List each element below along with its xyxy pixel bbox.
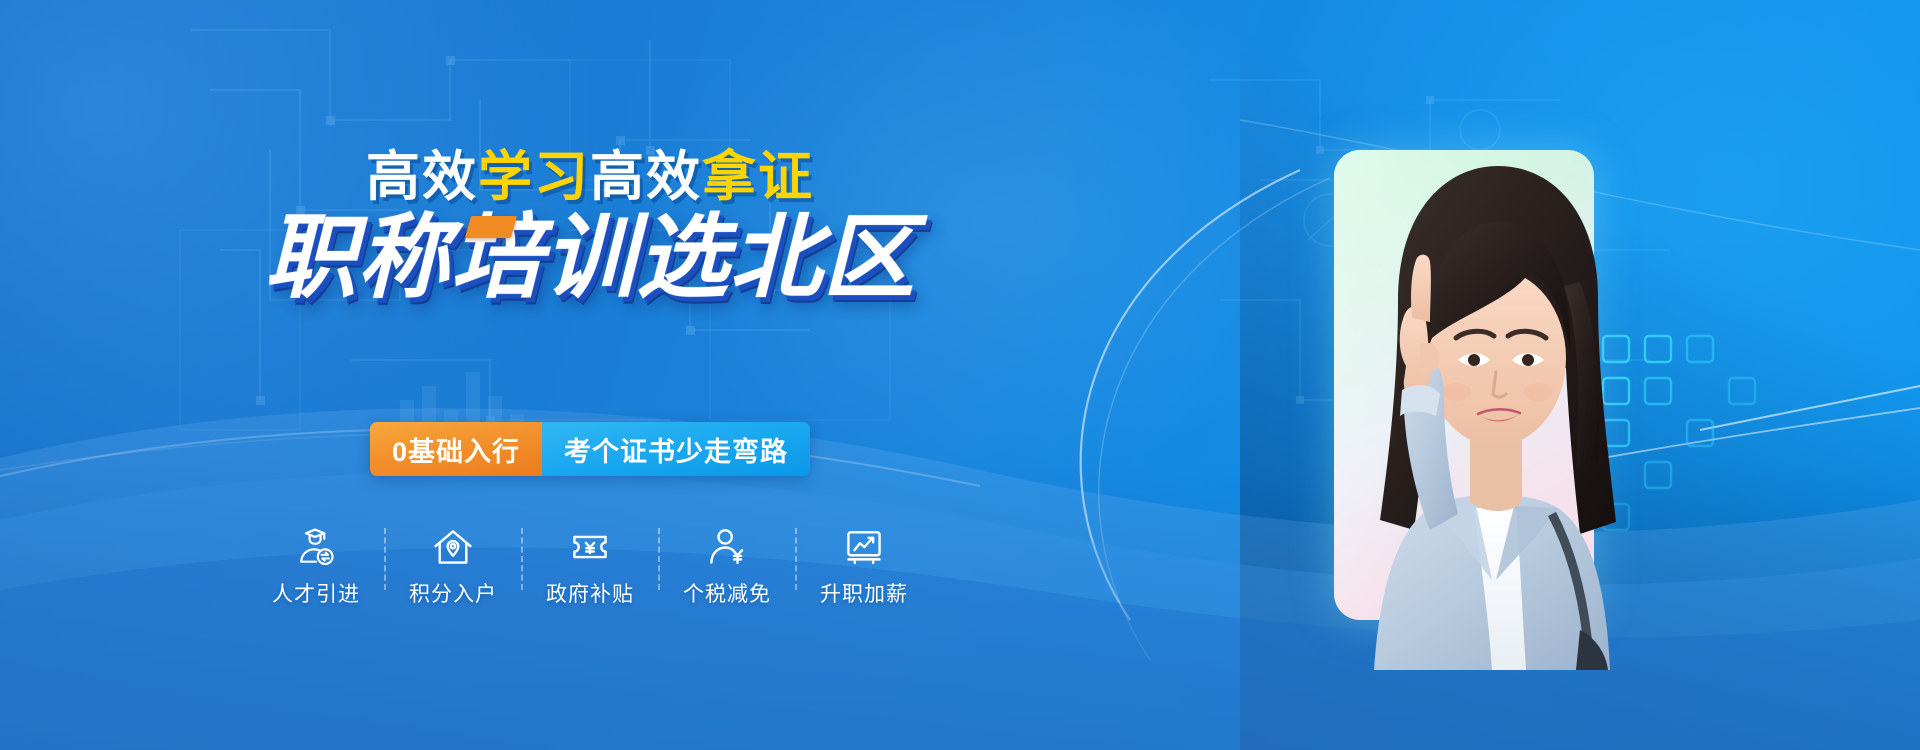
headline-seg-3: 高效 — [590, 147, 702, 207]
headline: 高效学习高效拿证 — [0, 150, 1180, 204]
headline-seg-2: 学习 — [478, 147, 590, 207]
orange-accent-shape — [465, 216, 517, 238]
voucher-yuan-icon — [568, 525, 612, 569]
feature-list: 人才引进 积分入户 — [0, 525, 1180, 608]
text-content: 高效学习高效拿证 职称培训选北区 0基础入行 考个证书少走弯路 — [0, 0, 1180, 750]
badge-secondary: 考个证书少走弯路 — [542, 422, 810, 476]
main-title: 职称培训选北区 — [264, 212, 915, 304]
chart-board-icon — [842, 525, 886, 569]
model-photo — [1280, 110, 1700, 670]
feature-item-tax[interactable]: 个税减免 — [660, 525, 795, 608]
main-title-row: 职称培训选北区 — [0, 212, 1180, 304]
pointing-woman-illustration — [1280, 110, 1700, 670]
feature-item-household[interactable]: 积分入户 — [386, 525, 521, 608]
graduate-person-icon — [294, 525, 338, 569]
person-yuan-icon — [705, 525, 749, 569]
badge-primary: 0基础入行 — [370, 422, 542, 476]
feature-label: 个税减免 — [683, 578, 771, 608]
house-pin-icon — [431, 525, 475, 569]
feature-item-subsidy[interactable]: 政府补贴 — [523, 525, 658, 608]
feature-label: 升职加薪 — [820, 578, 908, 608]
promo-banner: 高效学习高效拿证 职称培训选北区 0基础入行 考个证书少走弯路 — [0, 0, 1920, 750]
feature-item-promotion[interactable]: 升职加薪 — [797, 525, 932, 608]
feature-item-talent[interactable]: 人才引进 — [249, 525, 384, 608]
feature-label: 人才引进 — [272, 578, 360, 608]
feature-label: 政府补贴 — [546, 578, 634, 608]
badge-row: 0基础入行 考个证书少走弯路 — [0, 422, 1180, 476]
feature-label: 积分入户 — [409, 578, 497, 608]
headline-seg-1: 高效 — [366, 147, 478, 207]
headline-seg-4: 拿证 — [702, 147, 814, 207]
tagline-badge: 0基础入行 考个证书少走弯路 — [370, 422, 810, 476]
